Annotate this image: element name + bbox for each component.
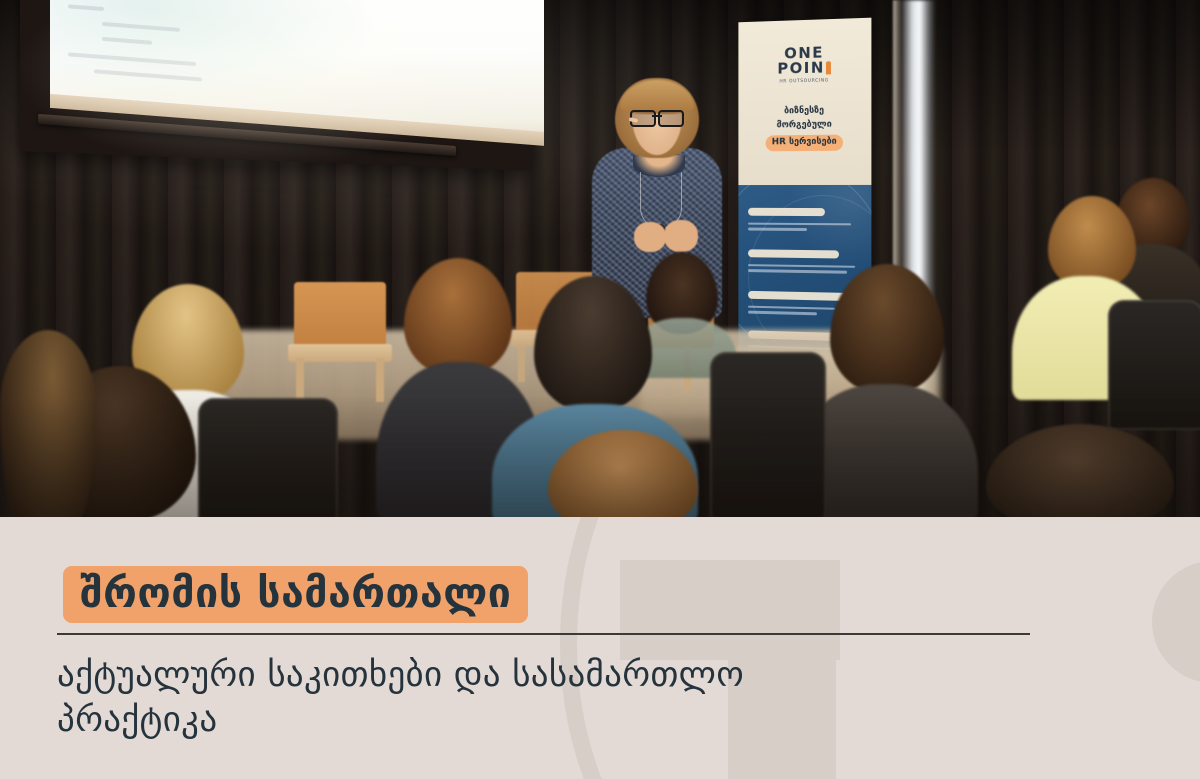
chair-leg bbox=[296, 358, 304, 402]
banner-service-item bbox=[748, 201, 857, 231]
poster-root: ONE POIN HR OUTSOURCING ბიზნესზე მორგებუ… bbox=[0, 0, 1200, 779]
banner-service-title bbox=[748, 249, 839, 258]
chair-backrest bbox=[710, 352, 826, 517]
speaker-right-hand bbox=[664, 220, 698, 252]
location-pin-icon bbox=[826, 62, 831, 75]
glasses-icon bbox=[630, 110, 684, 123]
glasses-right-lens bbox=[658, 110, 684, 127]
banner-hr-highlight: HR სერვისები bbox=[766, 134, 843, 151]
page-subtitle: აქტუალური საკითხები და სასამართლო პრაქტი… bbox=[57, 653, 957, 743]
banner-service-title bbox=[748, 208, 825, 216]
banner-service-item bbox=[748, 242, 857, 273]
watermark-circle bbox=[1152, 561, 1200, 683]
title-divider bbox=[57, 633, 1030, 635]
speaker-left-hand bbox=[634, 222, 666, 252]
banner-service-title bbox=[748, 291, 847, 301]
banner-geo-line-2: მორგებული bbox=[738, 118, 871, 134]
subtitle-line-1: აქტუალური საკითხები და სასამართლო bbox=[57, 653, 957, 698]
chair-backrest bbox=[1108, 300, 1200, 430]
banner-service-desc bbox=[748, 223, 857, 232]
rollup-banner-top bbox=[738, 18, 871, 185]
projection-screen-frame bbox=[20, 0, 530, 171]
event-photo: ONE POIN HR OUTSOURCING ბიზნესზე მორგებუ… bbox=[0, 0, 1200, 517]
chair-leg bbox=[518, 344, 525, 382]
banner-georgian-headline: ბიზნესზე მორგებული HR სერვისები bbox=[738, 104, 871, 152]
onepoint-logo: ONE POIN HR OUTSOURCING bbox=[738, 44, 871, 86]
attendee-head bbox=[0, 330, 96, 517]
title-badge: შრომის სამართალი bbox=[63, 566, 528, 623]
page-title: შრომის სამართალი bbox=[80, 573, 511, 614]
chair-backrest bbox=[294, 282, 386, 350]
chair-leg bbox=[376, 358, 384, 402]
chair-backrest bbox=[198, 398, 338, 517]
brand-line-2: POIN bbox=[777, 59, 824, 78]
subtitle-line-2: პრაქტიკა bbox=[57, 698, 957, 743]
watermark-numeral-top bbox=[620, 560, 840, 660]
